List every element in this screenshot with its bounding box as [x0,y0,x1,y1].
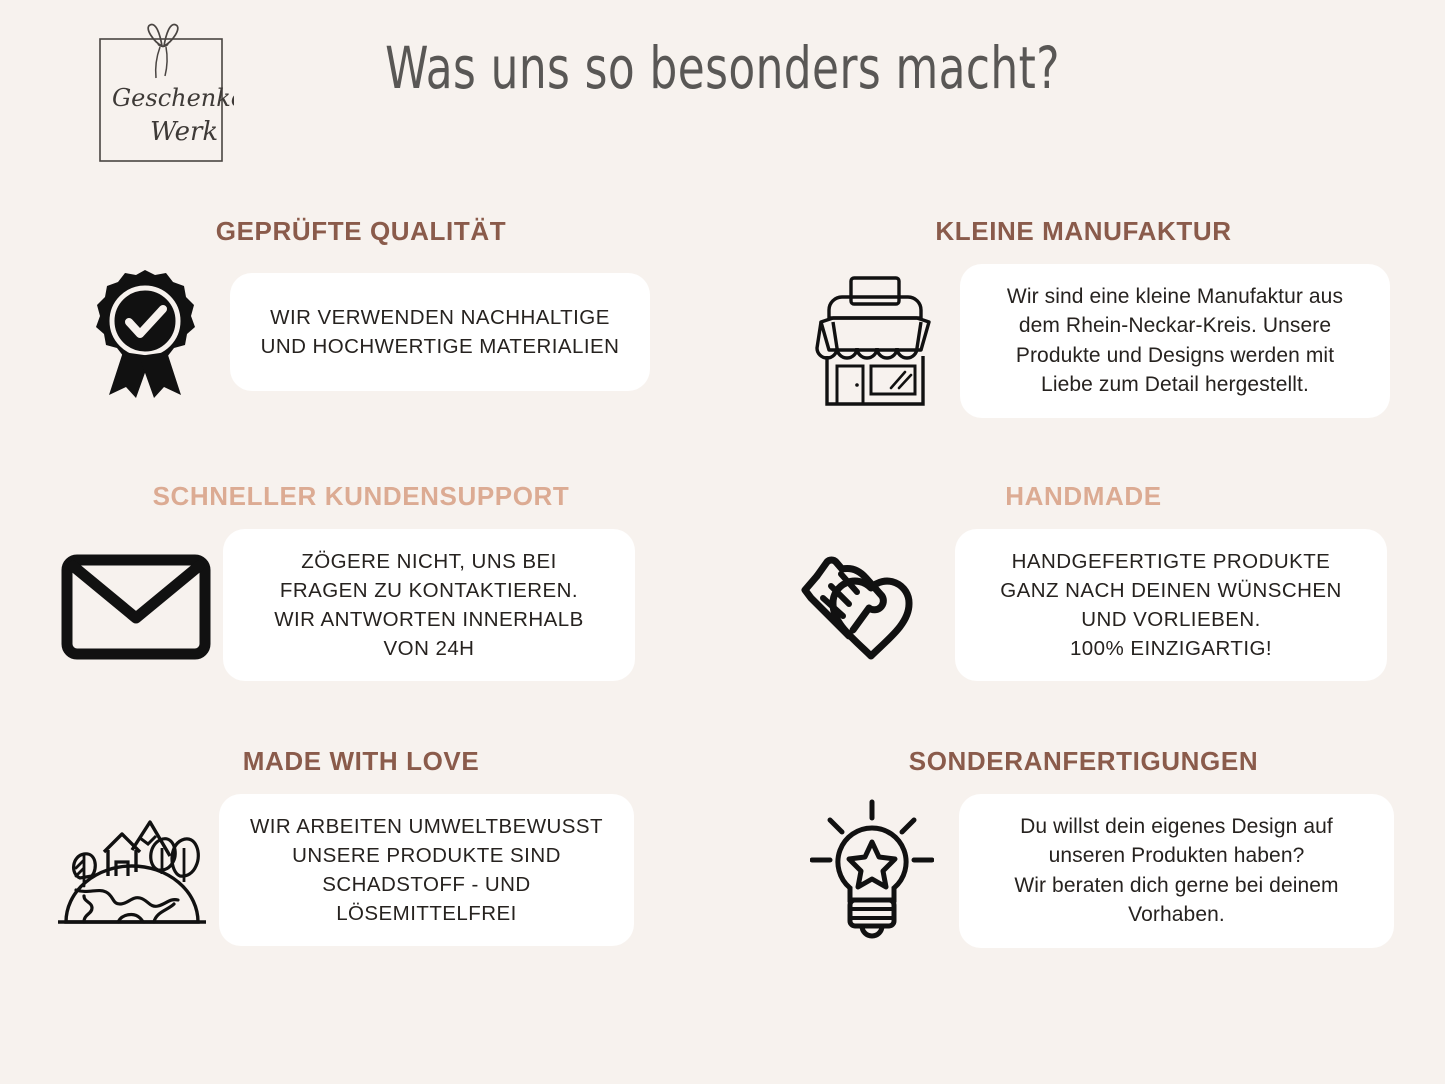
storefront-shop-icon [790,272,960,410]
card-line: Vorhaben. [1014,900,1338,929]
feature-card-text: ZÖGERE NICHT, UNS BEI FRAGEN ZU KONTAKTI… [274,547,584,663]
card-line: HANDGEFERTIGTE PRODUKTE [1000,547,1342,576]
card-line: 100% EINZIGARTIG! [1000,634,1342,663]
card-line: ZÖGERE NICHT, UNS BEI [274,547,584,576]
lightbulb-star-idea-icon [784,798,959,944]
feature-card-text: HANDGEFERTIGTE PRODUKTE GANZ NACH DEINEN… [1000,547,1342,663]
feature-made-with-love: MADE WITH LOVE [0,726,722,991]
feature-kleine-manufaktur: KLEINE MANUFAKTUR [722,196,1445,461]
feature-heading: HANDMADE [722,461,1445,509]
card-line: VON 24H [274,634,584,663]
card-line: FRAGEN ZU KONTAKTIEREN. [274,576,584,605]
earth-nature-eco-icon [44,804,219,936]
feature-heading: MADE WITH LOVE [0,726,722,774]
card-line: GANZ NACH DEINEN WÜNSCHEN [1000,576,1342,605]
feature-gepruefte-qualitaet: GEPRÜFTE QUALITÄT WIR VERWENDEN NACHHALT… [0,196,722,461]
feature-card: WIR ARBEITEN UMWELTBEWUSST UNSERE PRODUK… [219,794,634,946]
card-line: UND HOCHWERTIGE MATERIALIEN [261,332,620,361]
feature-card: HANDGEFERTIGTE PRODUKTE GANZ NACH DEINEN… [955,529,1387,681]
feature-card: Wir sind eine kleine Manufaktur aus dem … [960,264,1390,418]
feature-grid: GEPRÜFTE QUALITÄT WIR VERWENDEN NACHHALT… [0,196,1445,991]
feature-schneller-kundensupport: SCHNELLER KUNDENSUPPORT ZÖGERE NICHT, UN… [0,461,722,726]
award-badge-check-icon [60,264,230,400]
card-line: WIR ARBEITEN UMWELTBEWUSST [250,812,603,841]
feature-card-text: WIR ARBEITEN UMWELTBEWUSST UNSERE PRODUK… [250,812,603,928]
feature-sonderanfertigungen: SONDERANFERTIGUNGEN [722,726,1445,991]
card-line: LÖSEMITTELFREI [250,899,603,928]
feature-handmade: HANDMADE HANDGEFERTIGTE PRODUKTE GANZ NA… [722,461,1445,726]
feature-heading: SCHNELLER KUNDENSUPPORT [0,461,722,509]
card-line: WIR ANTWORTEN INNERHALB [274,605,584,634]
card-line: Wir sind eine kleine Manufaktur aus [1007,282,1343,311]
card-line: SCHADSTOFF - UND [250,870,603,899]
envelope-mail-icon [48,546,223,664]
page-title: Was uns so besonders macht? [116,34,1330,102]
card-line: WIR VERWENDEN NACHHALTIGE [261,303,620,332]
feature-card-text: WIR VERWENDEN NACHHALTIGE UND HOCHWERTIG… [261,303,620,361]
feature-card: Du willst dein eigenes Design auf unsere… [959,794,1394,948]
feature-card: WIR VERWENDEN NACHHALTIGE UND HOCHWERTIG… [230,273,650,391]
card-line: UND VORLIEBEN. [1000,605,1342,634]
card-line: Liebe zum Detail hergestellt. [1007,370,1343,399]
feature-heading: KLEINE MANUFAKTUR [722,196,1445,244]
feature-card: ZÖGERE NICHT, UNS BEI FRAGEN ZU KONTAKTI… [223,529,635,681]
logo-script-line2: Werk [150,117,218,147]
card-line: Wir beraten dich gerne bei deinem [1014,871,1338,900]
feature-heading: GEPRÜFTE QUALITÄT [0,196,722,244]
card-line: Du willst dein eigenes Design auf [1014,812,1338,841]
feature-card-text: Du willst dein eigenes Design auf unsere… [1014,812,1338,930]
card-line: UNSERE PRODUKTE SIND [250,841,603,870]
feature-card-text: Wir sind eine kleine Manufaktur aus dem … [1007,282,1343,400]
card-line: Produkte und Designs werden mit [1007,341,1343,370]
feature-heading: SONDERANFERTIGUNGEN [722,726,1445,774]
card-line: dem Rhein-Neckar-Kreis. Unsere [1007,311,1343,340]
card-line: unseren Produkten haben? [1014,841,1338,870]
hand-holding-heart-icon [780,540,955,670]
